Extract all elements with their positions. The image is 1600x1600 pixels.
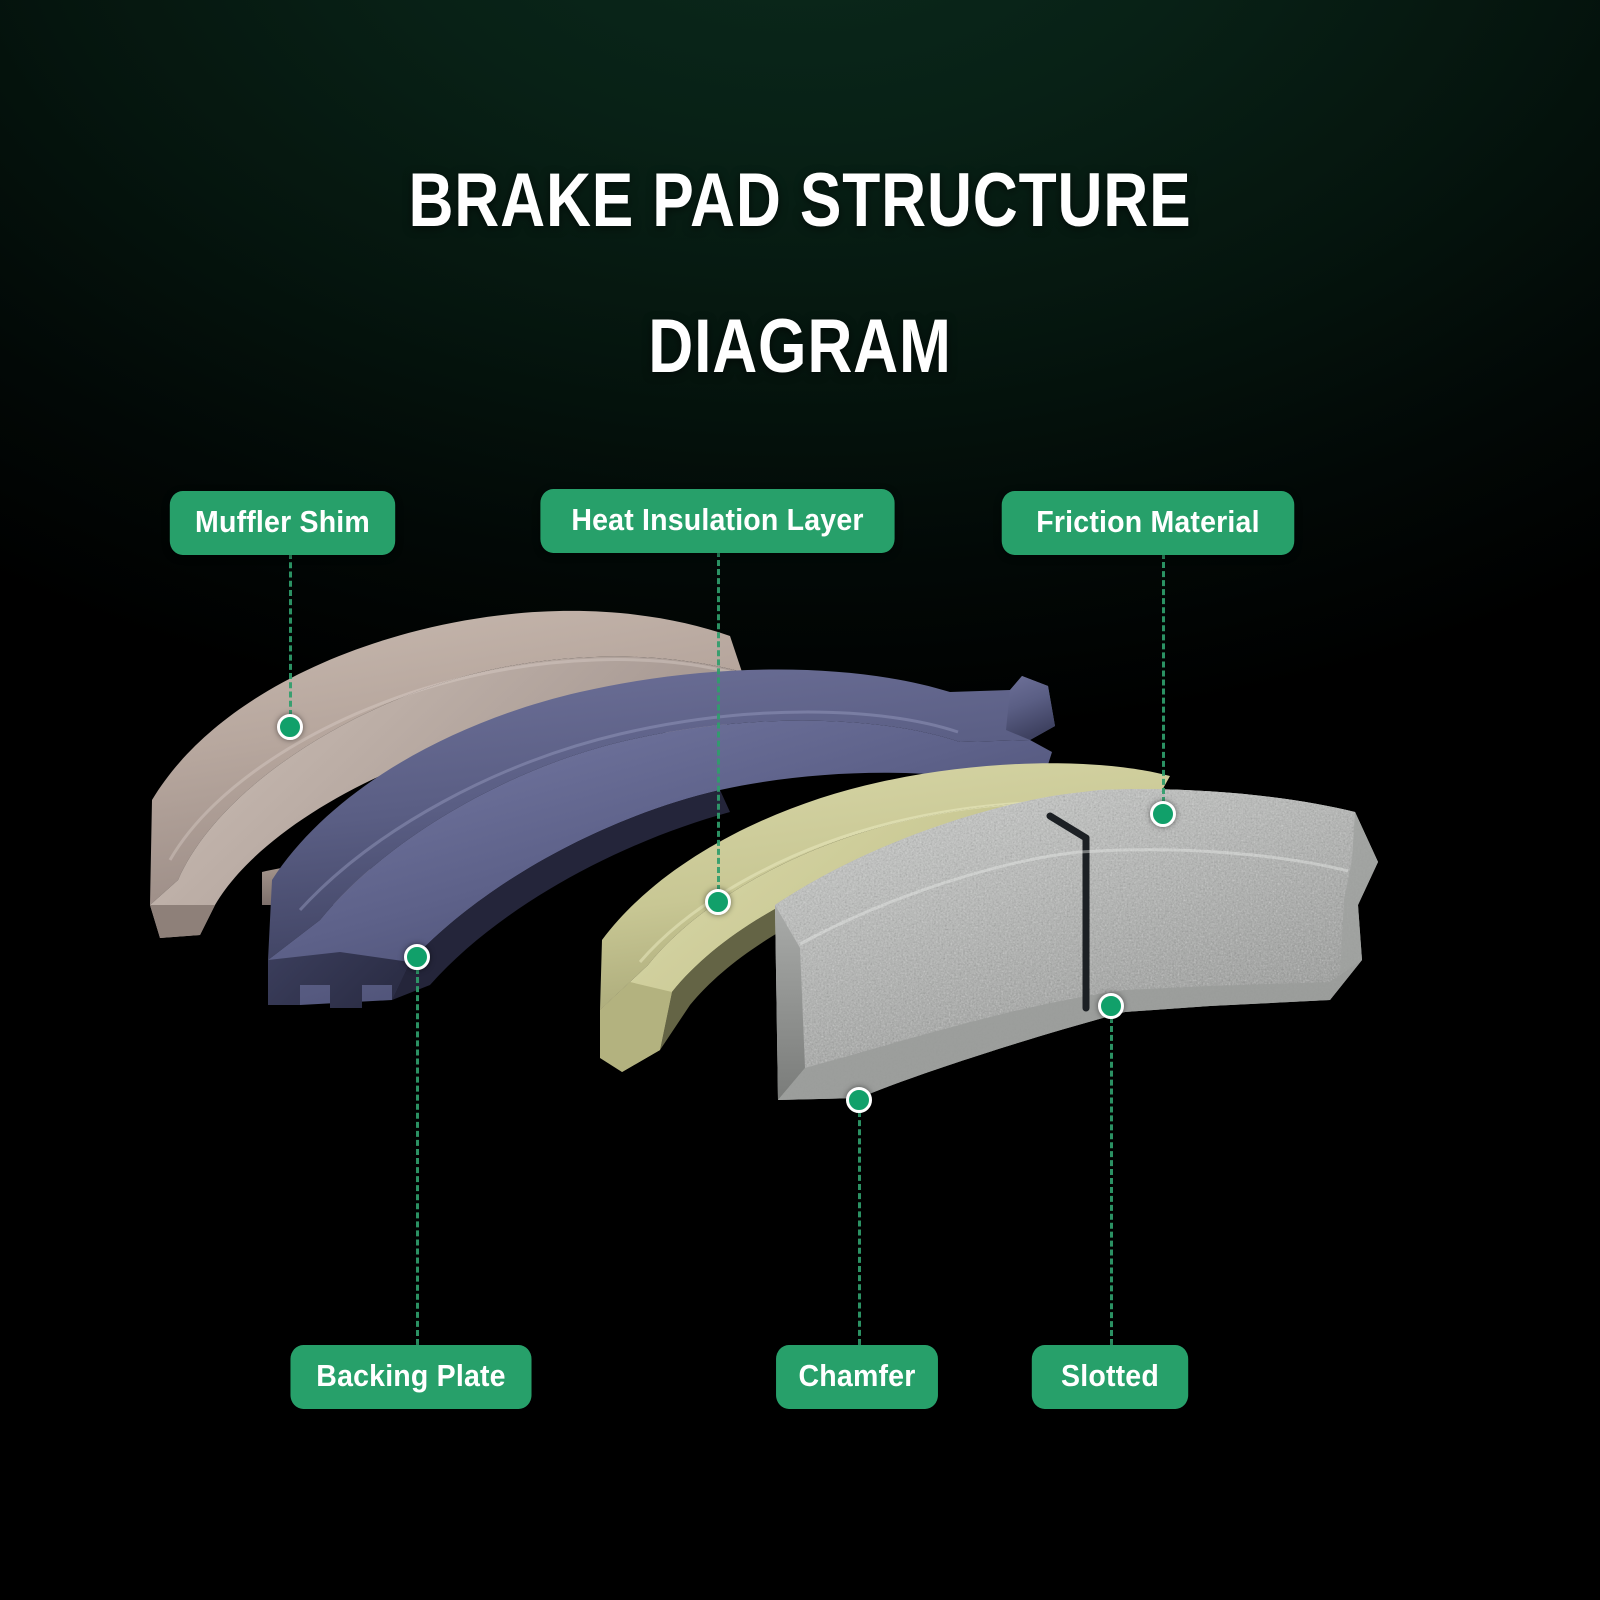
callout-dot-friction-material[interactable] xyxy=(1150,801,1176,827)
callout-badge-friction-material[interactable]: Friction Material xyxy=(1002,491,1295,555)
callout-badge-chamfer[interactable]: Chamfer xyxy=(776,1345,938,1409)
callout-dot-heat-insulation-layer[interactable] xyxy=(705,889,731,915)
leader-line-slotted xyxy=(1110,1017,1113,1345)
callout-dot-backing-plate[interactable] xyxy=(404,944,430,970)
leader-line-muffler-shim xyxy=(289,553,292,716)
leader-line-friction-material xyxy=(1162,553,1165,803)
callout-badge-slotted[interactable]: Slotted xyxy=(1032,1345,1188,1409)
callout-badge-heat-insulation-layer[interactable]: Heat Insulation Layer xyxy=(540,489,894,553)
leader-line-heat-insulation-layer xyxy=(717,551,720,891)
callout-badge-backing-plate[interactable]: Backing Plate xyxy=(290,1345,531,1409)
callout-dot-muffler-shim[interactable] xyxy=(277,714,303,740)
leader-line-chamfer xyxy=(858,1111,861,1345)
leader-line-backing-plate xyxy=(416,968,419,1345)
diagram-canvas: BRAKE PAD STRUCTURE DIAGRAM xyxy=(0,0,1600,1600)
callout-badge-muffler-shim[interactable]: Muffler Shim xyxy=(170,491,395,555)
callout-dot-slotted[interactable] xyxy=(1098,993,1124,1019)
callout-dot-chamfer[interactable] xyxy=(846,1087,872,1113)
